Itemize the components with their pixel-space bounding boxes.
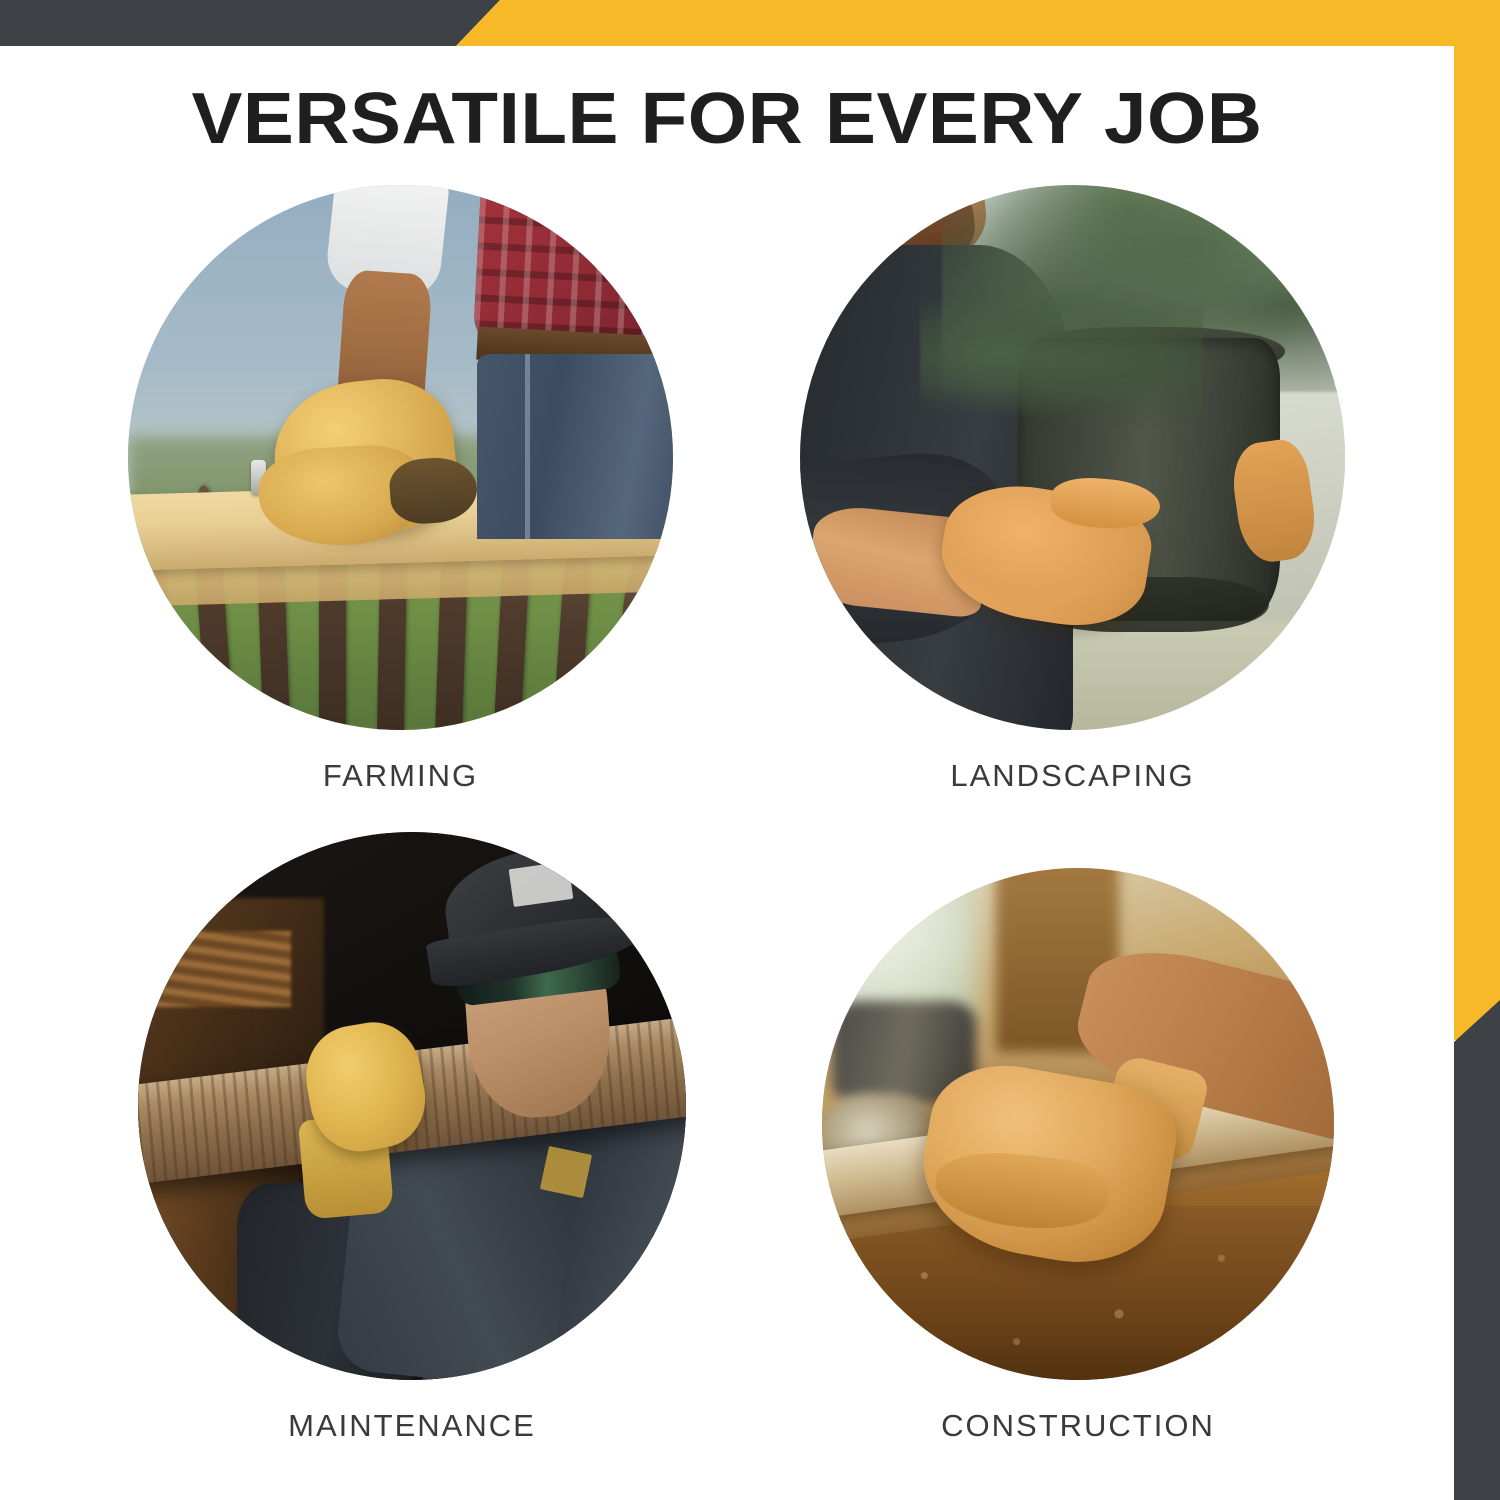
- infographic-page: VERSATILE FOR EVERY JOB: [0, 0, 1500, 1500]
- shirt-logo: [539, 1146, 591, 1198]
- grid-item-farming: FARMING: [128, 185, 673, 794]
- caption-landscaping: LANDSCAPING: [800, 758, 1345, 794]
- landscaping-photo: [800, 185, 1345, 730]
- job-grid: FARMING LANDSCAPING: [0, 0, 1454, 1500]
- caption-farming: FARMING: [128, 758, 673, 794]
- grid-item-construction: CONSTRUCTION: [822, 868, 1334, 1444]
- construction-photo: [822, 868, 1334, 1380]
- farming-photo: [128, 185, 673, 730]
- caption-maintenance: MAINTENANCE: [138, 1408, 686, 1444]
- caption-construction: CONSTRUCTION: [822, 1408, 1334, 1444]
- denim-jeans: [477, 354, 673, 539]
- window-light: [822, 868, 976, 1022]
- grid-item-landscaping: LANDSCAPING: [800, 185, 1345, 794]
- pine-shrub-lower: [920, 283, 1203, 425]
- grid-item-maintenance: MAINTENANCE: [138, 832, 686, 1444]
- stacked-planks: [149, 931, 291, 1008]
- right-edge-dark-strip: [1454, 1000, 1500, 1500]
- maintenance-photo: [138, 832, 686, 1380]
- ground-blur: [1051, 621, 1345, 730]
